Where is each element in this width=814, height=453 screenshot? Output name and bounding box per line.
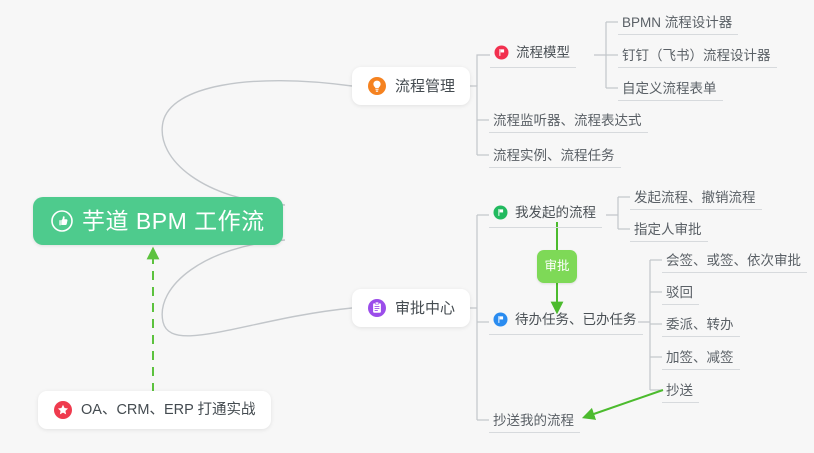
topic-label-process-instance: 流程实例、流程任务 bbox=[493, 149, 615, 163]
branch-node-process-management[interactable]: 流程管理 bbox=[352, 67, 470, 105]
topic-node-cc-my-process[interactable]: 抄送我的流程 bbox=[489, 407, 580, 433]
leaf-node-bpmn-designer[interactable]: BPMN 流程设计器 bbox=[618, 9, 738, 35]
approve-chip[interactable]: 审批 bbox=[537, 250, 577, 283]
leaf-node-dingtalk-designer[interactable]: 钉钉（飞书）流程设计器 bbox=[618, 42, 777, 68]
leaf-label-delegate-transfer: 委派、转办 bbox=[666, 318, 734, 332]
topic-node-process-model[interactable]: 流程模型 bbox=[490, 42, 576, 68]
topic-node-todo-done-tasks[interactable]: 待办任务、已办任务 bbox=[489, 309, 643, 335]
root-node-label: 芋道 BPM 工作流 bbox=[82, 210, 265, 233]
floating-label-integration: OA、CRM、ERP 打通实战 bbox=[81, 403, 256, 418]
topic-label-todo-done-tasks: 待办任务、已办任务 bbox=[515, 313, 637, 327]
leaf-node-launch-cancel[interactable]: 发起流程、撤销流程 bbox=[630, 184, 762, 210]
leaf-label-dingtalk-designer: 钉钉（飞书）流程设计器 bbox=[622, 49, 771, 63]
approve-chip-label: 审批 bbox=[544, 260, 569, 273]
topic-label-process-listener: 流程监听器、流程表达式 bbox=[493, 114, 642, 128]
flag-icon bbox=[493, 205, 508, 220]
branch-label-approval-center: 审批中心 bbox=[395, 301, 455, 316]
cc-arrow bbox=[588, 390, 663, 416]
leaf-label-assignee-approval: 指定人审批 bbox=[634, 223, 702, 237]
topic-label-process-model: 流程模型 bbox=[516, 46, 570, 60]
lightbulb-pin-icon bbox=[367, 76, 387, 96]
mindmap-canvas: 芋道 BPM 工作流 流程管理 流程模型 BPMN 流程设计器 钉钉（飞书）流程 bbox=[0, 0, 814, 453]
link-model-trunk bbox=[594, 22, 606, 88]
topic-node-process-listener[interactable]: 流程监听器、流程表达式 bbox=[489, 107, 648, 133]
leaf-label-launch-cancel: 发起流程、撤销流程 bbox=[634, 191, 756, 205]
link-root-to-approval-center bbox=[162, 240, 352, 336]
leaf-node-add-remove-sign[interactable]: 加签、减签 bbox=[662, 344, 740, 370]
leaf-node-cc[interactable]: 抄送 bbox=[662, 377, 699, 403]
leaf-label-add-remove-sign: 加签、减签 bbox=[666, 351, 734, 365]
thumbs-up-icon bbox=[51, 210, 73, 232]
leaf-label-bpmn-designer: BPMN 流程设计器 bbox=[622, 16, 732, 30]
leaf-label-reject: 驳回 bbox=[666, 286, 693, 300]
leaf-node-countersign[interactable]: 会签、或签、依次审批 bbox=[662, 247, 807, 273]
leaf-label-cc: 抄送 bbox=[666, 384, 693, 398]
leaf-node-reject[interactable]: 驳回 bbox=[662, 279, 699, 305]
leaf-node-assignee-approval[interactable]: 指定人审批 bbox=[630, 216, 708, 242]
star-icon bbox=[53, 400, 73, 420]
link-root-to-process-management bbox=[162, 81, 352, 205]
topic-label-my-started-process: 我发起的流程 bbox=[515, 206, 596, 220]
clipboard-icon bbox=[367, 298, 387, 318]
branch-label-process-management: 流程管理 bbox=[395, 79, 455, 94]
topic-node-process-instance[interactable]: 流程实例、流程任务 bbox=[489, 142, 621, 168]
leaf-label-custom-form: 自定义流程表单 bbox=[622, 82, 717, 96]
root-node[interactable]: 芋道 BPM 工作流 bbox=[33, 197, 283, 245]
leaf-node-custom-form[interactable]: 自定义流程表单 bbox=[618, 75, 723, 101]
floating-node-integration[interactable]: OA、CRM、ERP 打通实战 bbox=[38, 391, 271, 429]
link-pm-to-process-model bbox=[477, 55, 490, 86]
branch-node-approval-center[interactable]: 审批中心 bbox=[352, 289, 470, 327]
leaf-label-countersign: 会签、或签、依次审批 bbox=[666, 254, 801, 268]
link-started-trunk bbox=[606, 197, 618, 229]
leaf-node-delegate-transfer[interactable]: 委派、转办 bbox=[662, 311, 740, 337]
topic-node-my-started-process[interactable]: 我发起的流程 bbox=[489, 202, 602, 228]
flag-icon bbox=[493, 312, 508, 327]
flag-icon bbox=[494, 45, 509, 60]
topic-label-cc-my-process: 抄送我的流程 bbox=[493, 414, 574, 428]
